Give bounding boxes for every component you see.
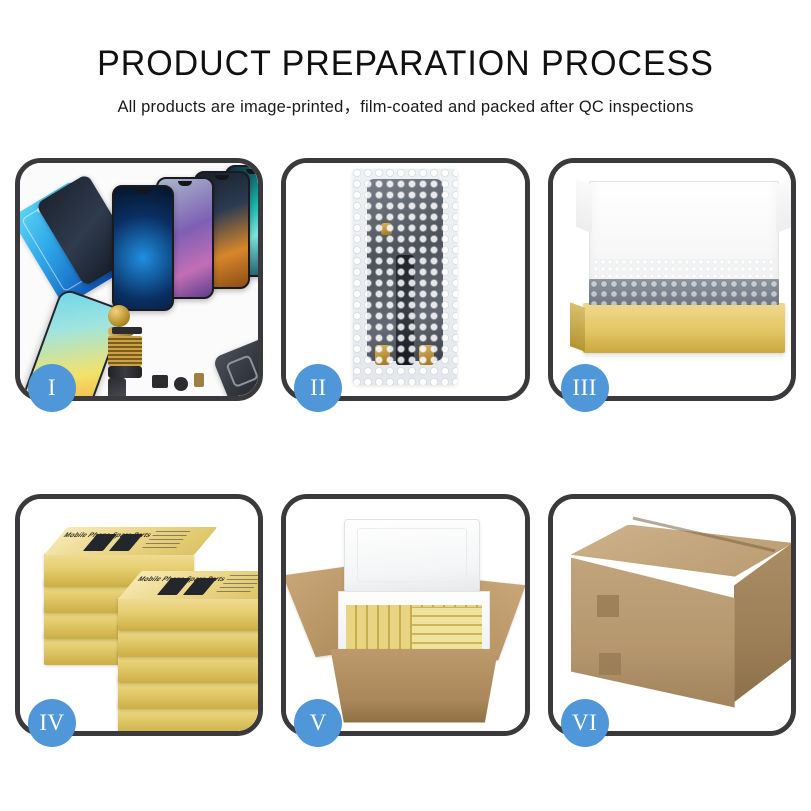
step-badge-5: V [294, 699, 342, 747]
step-panel-3: III [548, 158, 796, 401]
carton-tape-lower [599, 653, 621, 675]
bubble-wrap-overlay [353, 169, 457, 385]
part-coin-icon [108, 305, 130, 327]
phone-cracked-screen-icon [112, 185, 174, 311]
gold-box-base-icon [583, 303, 785, 353]
header: PRODUCT PREPARATION PROCESS All products… [0, 0, 811, 117]
step-image-2 [286, 163, 524, 396]
gold-box-stack: Mobile Phone Spare Parts Mobile Phone Sp… [28, 517, 258, 732]
shipping-carton-icon [571, 525, 791, 723]
step-image-4: Mobile Phone Spare Parts Mobile Phone Sp… [20, 499, 258, 732]
open-inner-box-scene [553, 163, 791, 396]
step-badge-6: VI [561, 699, 609, 747]
part-camera-icon [194, 373, 204, 387]
sealed-carton-scene [553, 499, 791, 732]
product-preparation-process-infographic: PRODUCT PREPARATION PROCESS All products… [0, 0, 811, 811]
gold-boxes-inside-b [412, 607, 482, 651]
carton-front-panel [330, 649, 498, 723]
step-badge-3: III [561, 364, 609, 412]
phone-parts-scene [20, 163, 258, 396]
part-connector-grid-icon [108, 336, 142, 366]
step-image-1 [20, 163, 258, 396]
step-badge-2: II [294, 364, 342, 412]
part-speaker-icon [174, 377, 188, 391]
step-panel-1: I [15, 158, 263, 401]
page-title: PRODUCT PREPARATION PROCESS [12, 44, 799, 84]
step-image-6 [553, 499, 791, 732]
step-panel-2: II [281, 158, 529, 401]
step-panel-5: V [281, 494, 529, 737]
step-badge-1: I [28, 364, 76, 412]
carton-loading-scene [286, 499, 524, 732]
carton-front-face [571, 558, 735, 708]
gold-box-front-1: Mobile Phone Spare Parts [118, 597, 258, 631]
step-image-3 [553, 163, 791, 396]
part-cable-a-icon [108, 366, 142, 378]
step-panel-6: VI [548, 494, 796, 737]
part-square-icon [152, 375, 168, 388]
part-strip-icon [112, 327, 142, 334]
carton-tape-upper [597, 595, 619, 617]
step-panel-4: Mobile Phone Spare Parts Mobile Phone Sp… [15, 494, 263, 737]
part-cable-b-icon [108, 378, 126, 396]
foam-box-lid-icon [344, 519, 480, 593]
page-subtitle: All products are image-printed，film-coat… [0, 93, 811, 117]
bubble-wrapped-screen-scene [286, 163, 524, 396]
step-badge-4: IV [28, 699, 76, 747]
stacked-boxes-scene: Mobile Phone Spare Parts Mobile Phone Sp… [20, 499, 258, 732]
process-step-grid: I II [15, 158, 796, 736]
step-image-5 [286, 499, 524, 732]
